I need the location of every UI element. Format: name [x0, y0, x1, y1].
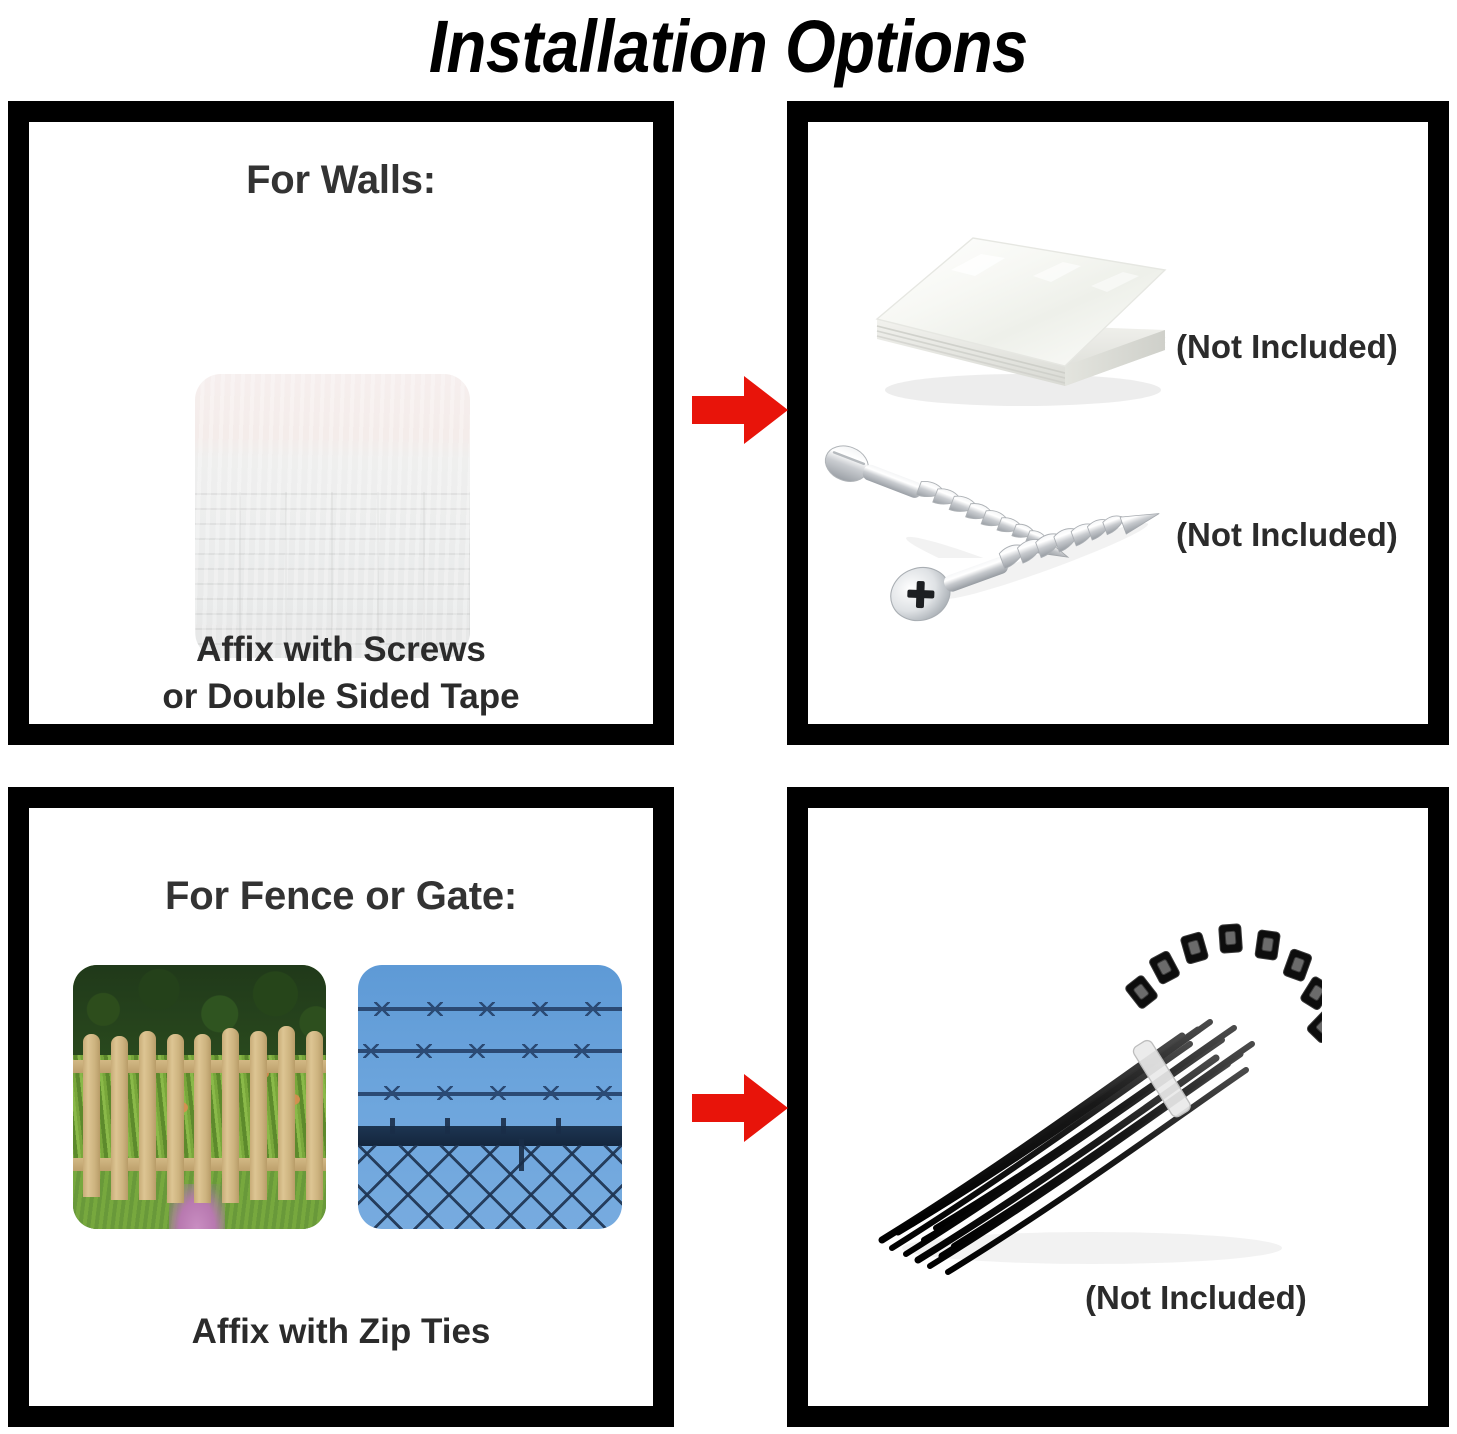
panel-for-walls: For Walls: Affix with Screws or Double S…	[8, 101, 674, 745]
chain-link-barbed-wire-fence-image	[358, 965, 622, 1229]
for-fence-heading: For Fence or Gate:	[29, 874, 653, 919]
screw-not-included-label: (Not Included)	[1176, 516, 1398, 554]
tape-not-included-label: (Not Included)	[1176, 328, 1398, 366]
for-fence-caption: Affix with Zip Ties	[29, 1308, 653, 1355]
black-zip-tie-bundle-image	[852, 918, 1322, 1293]
panel-for-walls-content: For Walls: Affix with Screws or Double S…	[29, 122, 653, 724]
for-walls-caption: Affix with Screws or Double Sided Tape	[29, 626, 653, 721]
wood-screw-phillips-image	[880, 508, 1180, 633]
ziptie-not-included-label: (Not Included)	[1085, 1279, 1307, 1317]
for-walls-heading: For Walls:	[29, 158, 653, 203]
wooden-picket-fence-image	[73, 965, 326, 1229]
for-walls-caption-line2: or Double Sided Tape	[29, 673, 653, 720]
arrow-right-icon-bottom	[692, 1072, 788, 1144]
page-title: Installation Options	[429, 4, 1028, 89]
arrow-right-icon-top	[692, 374, 788, 446]
for-walls-caption-line1: Affix with Screws	[29, 626, 653, 673]
white-brick-wall-image	[195, 374, 470, 658]
double-sided-tape-stack-image	[855, 218, 1185, 423]
page-title-bar: Installation Options	[0, 0, 1457, 92]
